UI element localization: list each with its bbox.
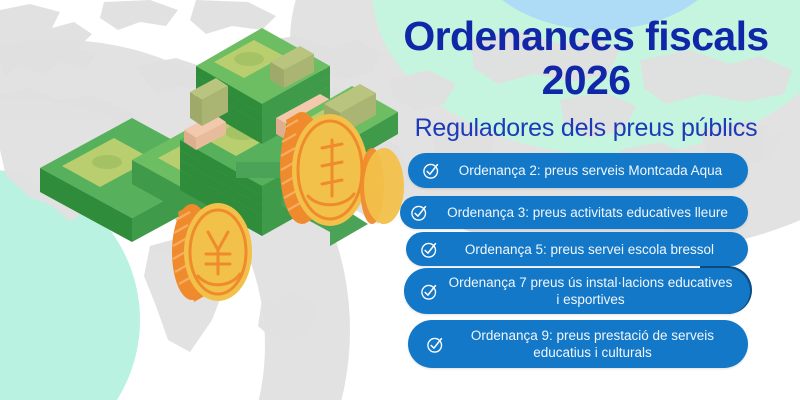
poster-canvas: Ordenances fiscals 2026 Reguladores dels… — [0, 0, 800, 400]
list-item[interactable]: Ordenança 3: preus activitats educatives… — [400, 196, 748, 229]
check-circle-icon — [410, 203, 429, 222]
list-item[interactable]: Ordenança 2: preus serveis Montcada Aqua — [408, 153, 748, 188]
list-item-label: Ordenança 3: preus activitats educatives… — [437, 204, 748, 221]
check-circle-icon — [426, 335, 445, 354]
list-item-label: Ordenança 9: preus prestació de serveis … — [453, 327, 748, 361]
list-item[interactable]: Ordenança 7 preus ús instal·lacions educ… — [404, 268, 750, 314]
list-item[interactable]: Ordenança 5: preus servei escola bressol — [406, 232, 748, 266]
list-item-label: Ordenança 7 preus ús instal·lacions educ… — [447, 274, 750, 308]
list-item-label: Ordenança 5: preus servei escola bressol — [447, 241, 748, 258]
list-item-label: Ordenança 2: preus serveis Montcada Aqua — [449, 162, 748, 179]
check-circle-icon — [420, 282, 439, 301]
list-item[interactable]: Ordenança 9: preus prestació de serveis … — [408, 320, 748, 368]
check-circle-icon — [422, 161, 441, 180]
ordinance-list: Ordenança 2: preus serveis Montcada Aqua… — [0, 0, 800, 400]
check-circle-icon — [420, 240, 439, 259]
